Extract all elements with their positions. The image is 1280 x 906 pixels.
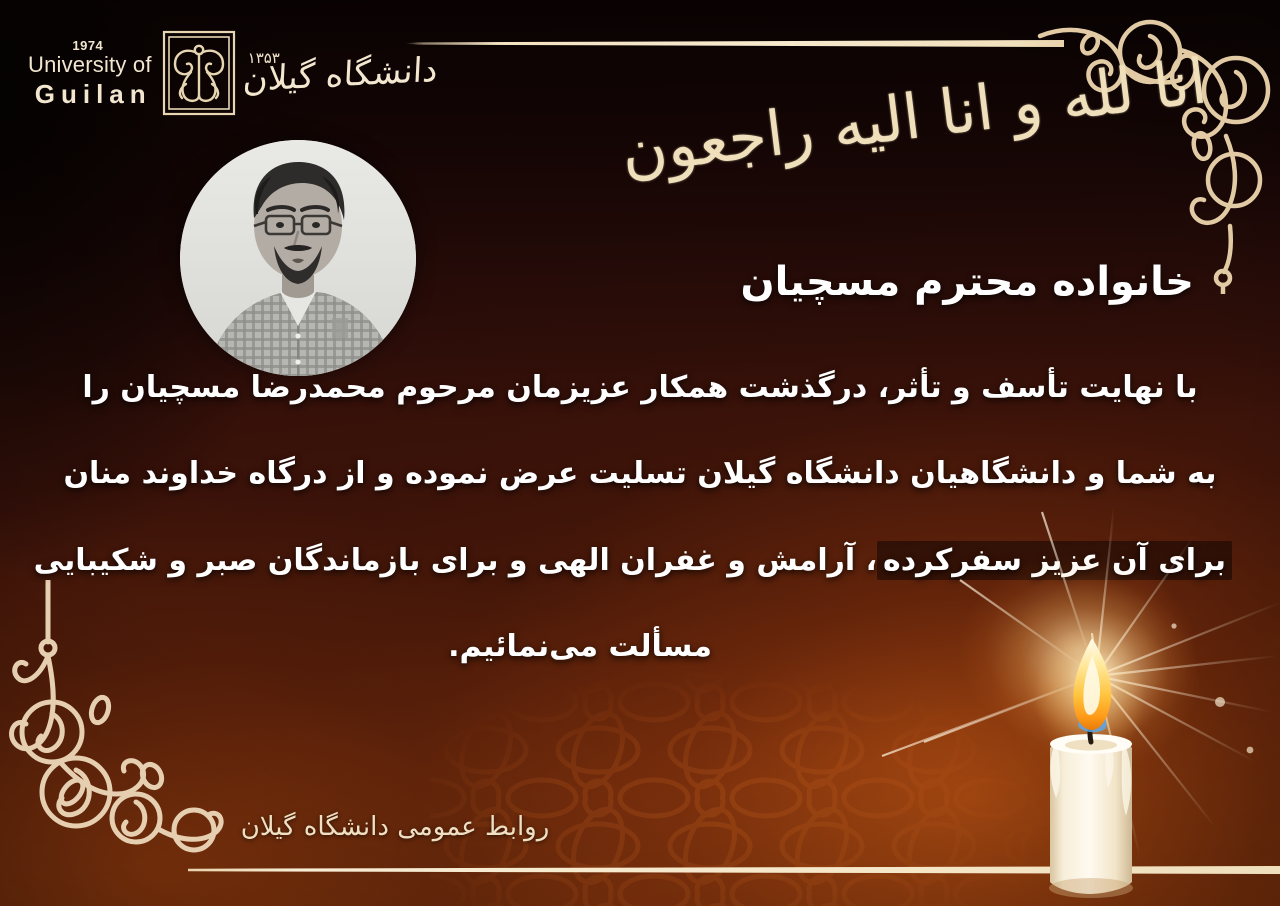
body-line-3: برای آن عزیز سفرکرده، آرامش و غفران الهی… (48, 545, 1232, 577)
logo-persian-name: دانشگاه گیلان (242, 53, 438, 97)
logo-english-line1: University of (28, 54, 152, 76)
condolence-poster: 1974 University of Guilan (0, 0, 1280, 906)
body-line-3-rest: ، آرامش و غفران الهی و برای بازماندگان ص… (34, 543, 877, 578)
deceased-portrait-photo (180, 140, 416, 376)
guilan-university-emblem-icon (162, 30, 236, 116)
memorial-candle (944, 616, 1244, 906)
logo-english-text: 1974 University of Guilan (28, 39, 152, 107)
candle-icon (998, 630, 1188, 900)
body-line-3-highlight: برای آن عزیز سفرکرده (877, 541, 1232, 580)
logo-english-year: 1974 (72, 39, 103, 52)
body-line-2: به شما و دانشگاهیان دانشگاه گیلان تسلیت … (48, 458, 1232, 490)
logo-persian-text: ۱۳۵۳ دانشگاه گیلان (242, 49, 436, 97)
logo-english-line2: Guilan (35, 81, 152, 107)
university-logo: 1974 University of Guilan (28, 30, 435, 116)
body-line-1: با نهایت تأسف و تأثر، درگذشت همکار عزیزم… (48, 372, 1232, 404)
page-title: خانواده محترم مسچیان (740, 258, 1194, 306)
